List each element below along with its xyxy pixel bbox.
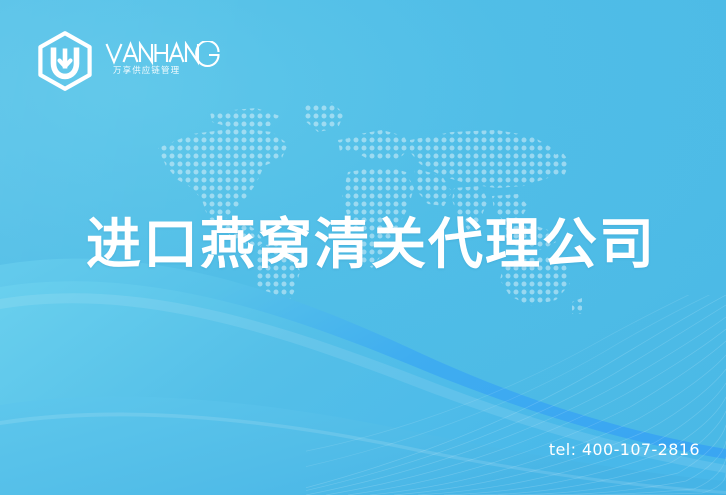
promo-banner: 万享供应链管理 进口燕窝清关代理公司 tel: 400-107-2816 xyxy=(0,0,726,495)
contact-phone: tel: 400-107-2816 xyxy=(549,440,700,459)
brand-logo[interactable]: 万享供应链管理 xyxy=(34,30,223,92)
brand-subtitle: 万享供应链管理 xyxy=(113,64,180,76)
hexagon-v-monogram-icon xyxy=(34,30,96,92)
page-title: 进口燕窝清关代理公司 xyxy=(86,217,656,272)
brand-wordmark: 万享供应链管理 xyxy=(105,41,223,81)
